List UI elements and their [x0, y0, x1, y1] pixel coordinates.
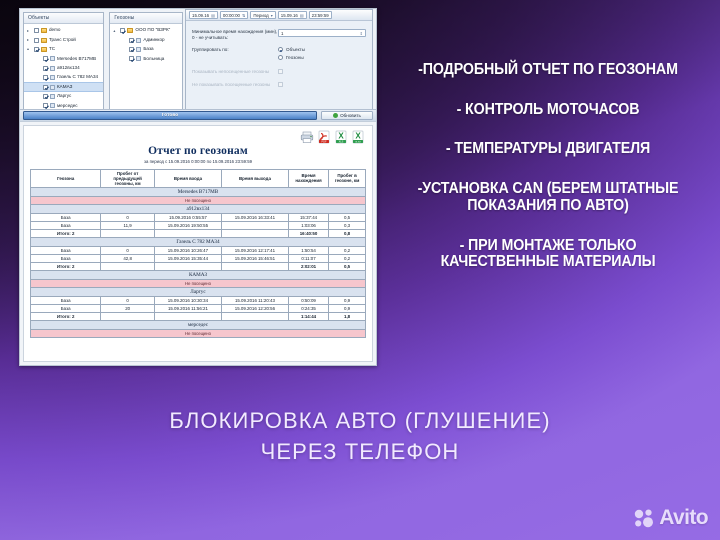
marketing-bullets: -ПОДРОБНЫЙ ОТЧЕТ ПО ГЕОЗОНАМ- КОНТРОЛЬ М…: [388, 62, 708, 271]
tree-item-label: Ларгус: [57, 94, 71, 99]
tree-checkbox[interactable]: [43, 103, 48, 108]
tree-checkbox[interactable]: [43, 85, 48, 90]
object-tree-item[interactable]: a912вх134: [24, 64, 103, 73]
total-prev-km: [101, 230, 155, 238]
group-by-radios[interactable]: Объекты Геозоны: [278, 47, 305, 63]
radio-objects[interactable]: Объекты: [278, 47, 305, 52]
refresh-button[interactable]: Обновить: [321, 111, 373, 120]
vehicle-icon: [50, 66, 55, 71]
vehicle-group-name: Ларгус: [31, 288, 366, 297]
total-km: 0,5: [329, 263, 366, 271]
geozone-tree-item[interactable]: ▴ООО ПО "ВЗРК": [110, 26, 182, 35]
avito-wordmark: Avito: [659, 506, 708, 530]
geozone-icon: [136, 56, 141, 61]
date-from-field[interactable]: 15.09.16▤: [189, 11, 218, 19]
vehicle-group-name: а912вх134: [31, 205, 366, 214]
vehicle-group-name: Mersedes B717MB: [31, 188, 366, 197]
enter-time-cell: 15.09.2016 10:26:47: [154, 247, 221, 255]
stay-time-cell: 15:37:44: [288, 214, 328, 222]
svg-text:PDF: PDF: [321, 139, 327, 143]
software-screenshot: Объекты ▸demo▸Транс Строй▴ТСMersedes B71…: [19, 8, 377, 366]
vehicle-group-row: Mersedes B717MB: [31, 188, 366, 197]
zone-cell: База: [31, 214, 101, 222]
vehicle-icon: [50, 103, 55, 108]
folder-icon: [41, 38, 47, 43]
tree-item-label: Админкор: [143, 38, 164, 43]
min-stay-input[interactable]: 1 ⇕: [278, 29, 366, 37]
geozones-panel: Геозоны ▴ООО ПО "ВЗРК"АдминкорБазаБольни…: [109, 12, 183, 118]
pdf-icon[interactable]: PDF: [317, 130, 331, 144]
prev-km-cell: 11,9: [101, 222, 155, 230]
table-row: База11,915.09.2016 19:50:551:03:060,3: [31, 222, 366, 230]
total-exit: [221, 263, 288, 271]
prev-km-cell: 0: [101, 297, 155, 305]
show-unvisited-checkbox: [278, 69, 283, 74]
tree-checkbox[interactable]: [34, 38, 39, 43]
enter-time-cell: 15.09.2016 15:35:44: [154, 255, 221, 263]
vehicle-group-name: КАМАЗ: [31, 271, 366, 280]
not-visited-text: Не посещено: [31, 280, 366, 288]
parameters-body: Минимальное время нахождения (мин), 0 - …: [186, 21, 372, 88]
total-enter: [154, 313, 221, 321]
enter-time-cell: 15.09.2016 11:56:21: [154, 305, 221, 313]
zone-cell: База: [31, 247, 101, 255]
geozones-panel-header: Геозоны: [110, 13, 182, 24]
tree-checkbox[interactable]: [120, 28, 125, 33]
hide-visited-row: Не показывать посещенные геозоны: [192, 82, 366, 88]
object-tree-item[interactable]: ▸Транс Строй: [24, 35, 103, 44]
object-tree-item[interactable]: ▴ТС: [24, 45, 103, 54]
headline-line-2: ЧЕРЕЗ ТЕЛЕФОН: [0, 436, 720, 467]
vehicle-icon: [50, 56, 55, 61]
group-by-label: Группировать по:: [192, 47, 278, 53]
total-exit: [221, 230, 288, 238]
tree-checkbox[interactable]: [129, 56, 134, 61]
tree-checkbox[interactable]: [34, 47, 39, 52]
app-top-area: Объекты ▸demo▸Транс Строй▴ТСMersedes B71…: [20, 9, 376, 122]
objects-tree[interactable]: ▸demo▸Транс Строй▴ТСMersedes B717MBa912в…: [24, 24, 103, 111]
not-visited-row: Не посещено: [31, 197, 366, 205]
vehicle-group-row: Ларгус: [31, 288, 366, 297]
prev-km-cell: 42,8: [101, 255, 155, 263]
calendar-icon: ▤: [300, 13, 304, 18]
tree-item-label: ООО ПО "ВЗРК": [135, 28, 170, 33]
table-body: Mersedes B717MBНе посещеноа912вх134База0…: [31, 188, 366, 338]
time-to-value: 23:59:59: [312, 13, 329, 18]
total-prev-km: [101, 263, 155, 271]
zone-km-cell: 0,5: [329, 214, 366, 222]
radio-objects-label: Объекты: [286, 47, 305, 52]
spinner-icon: ⇅: [242, 13, 245, 18]
tree-item-label: База: [143, 47, 153, 52]
zone-km-cell: 0,2: [329, 255, 366, 263]
prev-km-cell: 20: [101, 305, 155, 313]
zone-cell: База: [31, 222, 101, 230]
vehicle-group-row: Газель С 782 МА34: [31, 238, 366, 247]
object-tree-item[interactable]: Ларгус: [24, 92, 103, 101]
enter-time-cell: 15.09.2016 19:50:55: [154, 222, 221, 230]
show-unvisited-row: Показывать непосещенные геозоны: [192, 69, 366, 75]
geozone-tree-item[interactable]: Больница: [110, 54, 182, 63]
not-visited-row: Не посещено: [31, 280, 366, 288]
action-bar: Готово Обновить: [20, 109, 376, 121]
object-tree-item[interactable]: КАМАЗ: [24, 82, 103, 91]
radio-geozones-label: Геозоны: [286, 55, 304, 60]
folder-icon: [41, 47, 47, 52]
geozone-tree-item[interactable]: Админкор: [110, 35, 182, 44]
date-from-value: 15.09.16: [192, 13, 209, 18]
tree-checkbox[interactable]: [43, 56, 48, 61]
svg-text:XLS: XLS: [339, 140, 344, 143]
stay-time-cell: 1:03:06: [288, 222, 328, 230]
svg-text:XLSX: XLSX: [355, 141, 361, 143]
objects-panel: Объекты ▸demo▸Транс Строй▴ТСMersedes B71…: [23, 12, 104, 118]
refresh-label: Обновить: [340, 113, 361, 118]
exit-time-cell: [221, 222, 288, 230]
tree-checkbox[interactable]: [34, 28, 39, 33]
table-column-header: Пробег в геозоне, км: [329, 169, 366, 188]
min-stay-row: Минимальное время нахождения (мин), 0 - …: [192, 29, 366, 41]
table-row: База2015.09.2016 11:56:2115.09.2016 12:2…: [31, 305, 366, 313]
table-row: База015.09.2016 10:30:3415.09.2016 11:20…: [31, 297, 366, 305]
radio-geozones-icon: [278, 55, 283, 60]
refresh-icon: [333, 113, 338, 118]
stay-time-cell: 1:50:54: [288, 247, 328, 255]
total-exit: [221, 313, 288, 321]
tree-checkbox[interactable]: [43, 75, 48, 80]
tree-item-label: Mersedes B717MB: [57, 57, 96, 62]
tree-checkbox[interactable]: [129, 47, 134, 52]
tree-twisty-icon[interactable]: ▸: [27, 38, 32, 42]
vehicle-icon: [50, 75, 55, 80]
table-column-header: Время нахождения: [288, 169, 328, 188]
table-header-row: ГеозонаПробег от предыдущей геозоны, кмВ…: [31, 169, 366, 188]
geozone-tree-item[interactable]: База: [110, 45, 182, 54]
total-prev-km: [101, 313, 155, 321]
tree-item-label: ТС: [49, 47, 55, 52]
zone-km-cell: 0,2: [329, 247, 366, 255]
geozone-icon: [136, 38, 141, 43]
objects-panel-header: Объекты: [24, 13, 103, 24]
object-tree-item[interactable]: ▸demo: [24, 26, 103, 35]
not-visited-text: Не посещено: [31, 197, 366, 205]
tree-twisty-icon[interactable]: ▴: [27, 47, 32, 51]
marketing-bullet: - КОНТРОЛЬ МОТОЧАСОВ: [401, 102, 695, 119]
run-button[interactable]: Готово: [23, 111, 317, 120]
total-row: Итого: 22:02:010,5: [31, 263, 366, 271]
object-tree-item[interactable]: Mersedes B717MB: [24, 54, 103, 63]
period-select[interactable]: Период▾: [250, 11, 275, 19]
svg-text:X: X: [355, 131, 361, 140]
report-table: ГеозонаПробег от предыдущей геозоны, кмВ…: [30, 169, 366, 339]
table-row: База015.09.2016 0:55:5715.09.2016 16:33:…: [31, 214, 366, 222]
exit-time-cell: 15.09.2016 12:20:56: [221, 305, 288, 313]
vehicle-group-row: а912вх134: [31, 205, 366, 214]
radio-objects-icon: [278, 47, 283, 52]
table-column-header: Пробег от предыдущей геозоны, км: [101, 169, 155, 188]
vehicle-group-name: Газель С 782 МА34: [31, 238, 366, 247]
marketing-bullet: - ПРИ МОНТАЖЕ ТОЛЬКО КАЧЕСТВЕННЫЕ МАТЕРИ…: [401, 238, 695, 271]
marketing-bullet: - ТЕМПЕРАТУРЫ ДВИГАТЕЛЯ: [401, 141, 695, 158]
hide-visited-checkbox: [278, 82, 283, 87]
printer-icon[interactable]: [300, 130, 314, 144]
total-label: Итого: 2: [31, 263, 101, 271]
table-row: База015.09.2016 10:26:4715.09.2016 12:17…: [31, 247, 366, 255]
total-row: Итого: 21:14:441,8: [31, 313, 366, 321]
chevron-down-icon: ▾: [271, 13, 273, 18]
geozones-tree[interactable]: ▴ООО ПО "ВЗРК"АдминкорБазаБольница: [110, 24, 182, 64]
headline-line-1: БЛОКИРОВКА АВТО (ГЛУШЕНИЕ): [0, 405, 720, 436]
not-visited-row: Не посещено: [31, 330, 366, 338]
stay-time-cell: 0:11:07: [288, 255, 328, 263]
folder-icon: [127, 28, 133, 33]
vehicle-group-name: мерседес: [31, 321, 366, 330]
enter-time-cell: 15.09.2016 0:55:57: [154, 214, 221, 222]
tree-twisty-icon[interactable]: ▴: [113, 29, 118, 33]
total-stay: 1:14:44: [288, 313, 328, 321]
time-from-value: 00:00:00: [223, 13, 240, 18]
tree-checkbox[interactable]: [129, 38, 134, 43]
marketing-bullet: -УСТАНОВКА CAN (БЕРЕМ ШТАТНЫЕ ПОКАЗАНИЯ …: [401, 181, 695, 214]
tree-item-label: КАМАЗ: [57, 85, 72, 90]
vehicle-icon: [50, 94, 55, 99]
zone-km-cell: 0,3: [329, 222, 366, 230]
tree-item-label: Транс Строй: [49, 38, 76, 43]
time-to-field[interactable]: 23:59:59: [309, 11, 332, 19]
total-km: 0,8: [329, 230, 366, 238]
stepper-icon[interactable]: ⇕: [360, 31, 363, 36]
object-tree-item[interactable]: Газель С 782 МА34: [24, 73, 103, 82]
min-stay-value: 1: [281, 31, 283, 36]
group-by-row: Группировать по: Объекты Геозоны: [192, 47, 366, 63]
xlsx-icon[interactable]: XXLSX: [351, 130, 365, 144]
svg-text:X: X: [338, 131, 344, 140]
vehicle-group-row: КАМАЗ: [31, 271, 366, 280]
tree-item-label: Больница: [143, 57, 164, 62]
total-stay: 2:02:01: [288, 263, 328, 271]
headline-block: БЛОКИРОВКА АВТО (ГЛУШЕНИЕ) ЧЕРЕЗ ТЕЛЕФОН: [0, 405, 720, 467]
table-row: База42,815.09.2016 15:35:4415.09.2016 15…: [31, 255, 366, 263]
parameters-panel: 15.09.16▤ 00:00:00⇅ Период▾ 15.09.16▤ 23…: [185, 9, 373, 121]
prev-km-cell: 0: [101, 214, 155, 222]
tree-item-label: a912вх134: [57, 66, 80, 71]
tree-item-label: demo: [49, 28, 61, 33]
radio-geozones[interactable]: Геозоны: [278, 55, 305, 60]
report-title: Отчет по геозонам: [30, 145, 366, 157]
total-enter: [154, 263, 221, 271]
xls-icon[interactable]: XXLS: [334, 130, 348, 144]
report-area: PDF XXLS XXLSX Отчет по геозонам за пери…: [20, 122, 376, 365]
period-toolbar: 15.09.16▤ 00:00:00⇅ Период▾ 15.09.16▤ 23…: [186, 10, 372, 21]
avito-dots-icon: [633, 507, 655, 529]
report-subtitle: за период с 15.09.2016 0:00:00 по 15.09.…: [30, 159, 366, 164]
folder-icon: [41, 28, 47, 33]
vehicle-group-row: мерседес: [31, 321, 366, 330]
time-from-field[interactable]: 00:00:00⇅: [220, 11, 248, 19]
total-label: Итого: 2: [31, 230, 101, 238]
geozone-icon: [136, 47, 141, 52]
tree-item-label: мерседес: [57, 104, 78, 109]
stay-time-cell: 0:50:09: [288, 297, 328, 305]
zone-cell: База: [31, 297, 101, 305]
tree-twisty-icon[interactable]: ▸: [27, 29, 32, 33]
total-label: Итого: 2: [31, 313, 101, 321]
zone-cell: База: [31, 255, 101, 263]
zone-km-cell: 0,9: [329, 297, 366, 305]
avito-watermark: Avito: [633, 506, 708, 530]
vehicle-icon: [50, 85, 55, 90]
exit-time-cell: 15.09.2016 11:20:43: [221, 297, 288, 305]
prev-km-cell: 0: [101, 247, 155, 255]
total-enter: [154, 230, 221, 238]
report-paper: PDF XXLS XXLSX Отчет по геозонам за пери…: [23, 125, 373, 362]
calendar-icon: ▤: [211, 13, 215, 18]
date-to-value: 15.09.16: [281, 13, 298, 18]
stay-time-cell: 0:24:35: [288, 305, 328, 313]
exit-time-cell: 15.09.2016 15:46:51: [221, 255, 288, 263]
not-visited-text: Не посещено: [31, 330, 366, 338]
zone-cell: База: [31, 305, 101, 313]
date-to-field[interactable]: 15.09.16▤: [278, 11, 307, 19]
enter-time-cell: 15.09.2016 10:30:34: [154, 297, 221, 305]
tree-checkbox[interactable]: [43, 66, 48, 71]
tree-checkbox[interactable]: [43, 94, 48, 99]
period-label: Период: [253, 13, 268, 18]
zone-km-cell: 0,9: [329, 305, 366, 313]
export-toolbar: PDF XXLS XXLSX: [300, 130, 365, 144]
hide-visited-label: Не показывать посещенные геозоны: [192, 82, 278, 88]
marketing-bullet: -ПОДРОБНЫЙ ОТЧЕТ ПО ГЕОЗОНАМ: [401, 62, 695, 79]
total-stay: 16:40:50: [288, 230, 328, 238]
table-column-header: Время выхода: [221, 169, 288, 188]
total-km: 1,8: [329, 313, 366, 321]
total-row: Итого: 216:40:500,8: [31, 230, 366, 238]
tree-item-label: Газель С 782 МА34: [57, 75, 98, 80]
min-stay-label: Минимальное время нахождения (мин), 0 - …: [192, 29, 278, 41]
exit-time-cell: 15.09.2016 16:33:41: [221, 214, 288, 222]
table-column-header: Геозона: [31, 169, 101, 188]
show-unvisited-label: Показывать непосещенные геозоны: [192, 69, 278, 75]
table-column-header: Время входа: [154, 169, 221, 188]
exit-time-cell: 15.09.2016 12:17:41: [221, 247, 288, 255]
